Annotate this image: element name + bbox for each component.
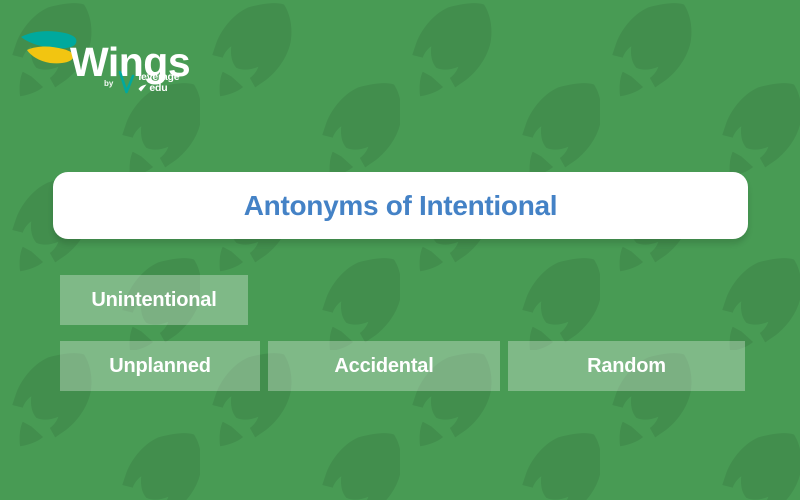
answer-chip: Random <box>508 341 745 391</box>
edu-line: edu <box>138 83 179 94</box>
answer-row-2: Unplanned Accidental Random <box>60 341 745 391</box>
edu-label: edu <box>149 83 167 94</box>
leverage-v-icon <box>118 71 135 95</box>
answer-chip: Accidental <box>268 341 500 391</box>
answer-chip: Unplanned <box>60 341 260 391</box>
brand-byline: by leverage edu <box>104 70 179 96</box>
byline-by-label: by <box>104 79 113 88</box>
slide-canvas: Wings by leverage edu Antonyms of Intent… <box>0 0 800 500</box>
answer-chip: Unintentional <box>60 275 248 325</box>
answer-row-1: Unintentional <box>60 275 248 325</box>
page-title: Antonyms of Intentional <box>244 190 558 222</box>
leaf-accent-icon <box>138 84 147 92</box>
leverage-edu-wordmark: leverage edu <box>138 72 179 93</box>
brand-logo: Wings by leverage edu <box>18 24 198 96</box>
title-card: Antonyms of Intentional <box>53 172 748 239</box>
